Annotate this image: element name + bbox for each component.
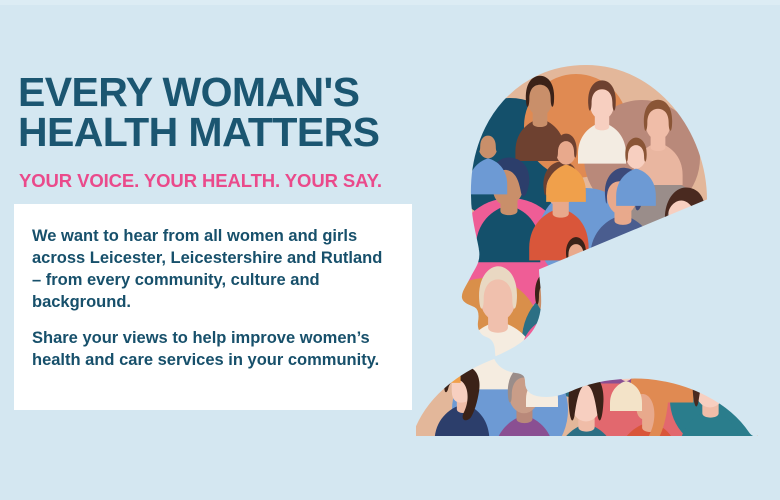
tagline: YOUR VOICE. YOUR HEALTH. YOUR SAY. (19, 170, 382, 192)
card-paragraph-1: We want to hear from all women and girls… (32, 226, 388, 314)
bottom-background-strip (0, 440, 780, 500)
info-card: We want to hear from all women and girls… (14, 204, 412, 410)
headline-line-2: HEALTH MATTERS (18, 112, 438, 152)
card-paragraph-2: Share your views to help improve women’s… (32, 328, 388, 372)
page-title: EVERY WOMAN'S HEALTH MATTERS (18, 72, 438, 152)
womens-heads-collage-silhouette (390, 40, 780, 460)
headline-line-1: EVERY WOMAN'S (18, 72, 438, 112)
top-accent-band (0, 0, 780, 5)
campaign-banner: EVERY WOMAN'S HEALTH MATTERS YOUR VOICE.… (0, 0, 780, 500)
